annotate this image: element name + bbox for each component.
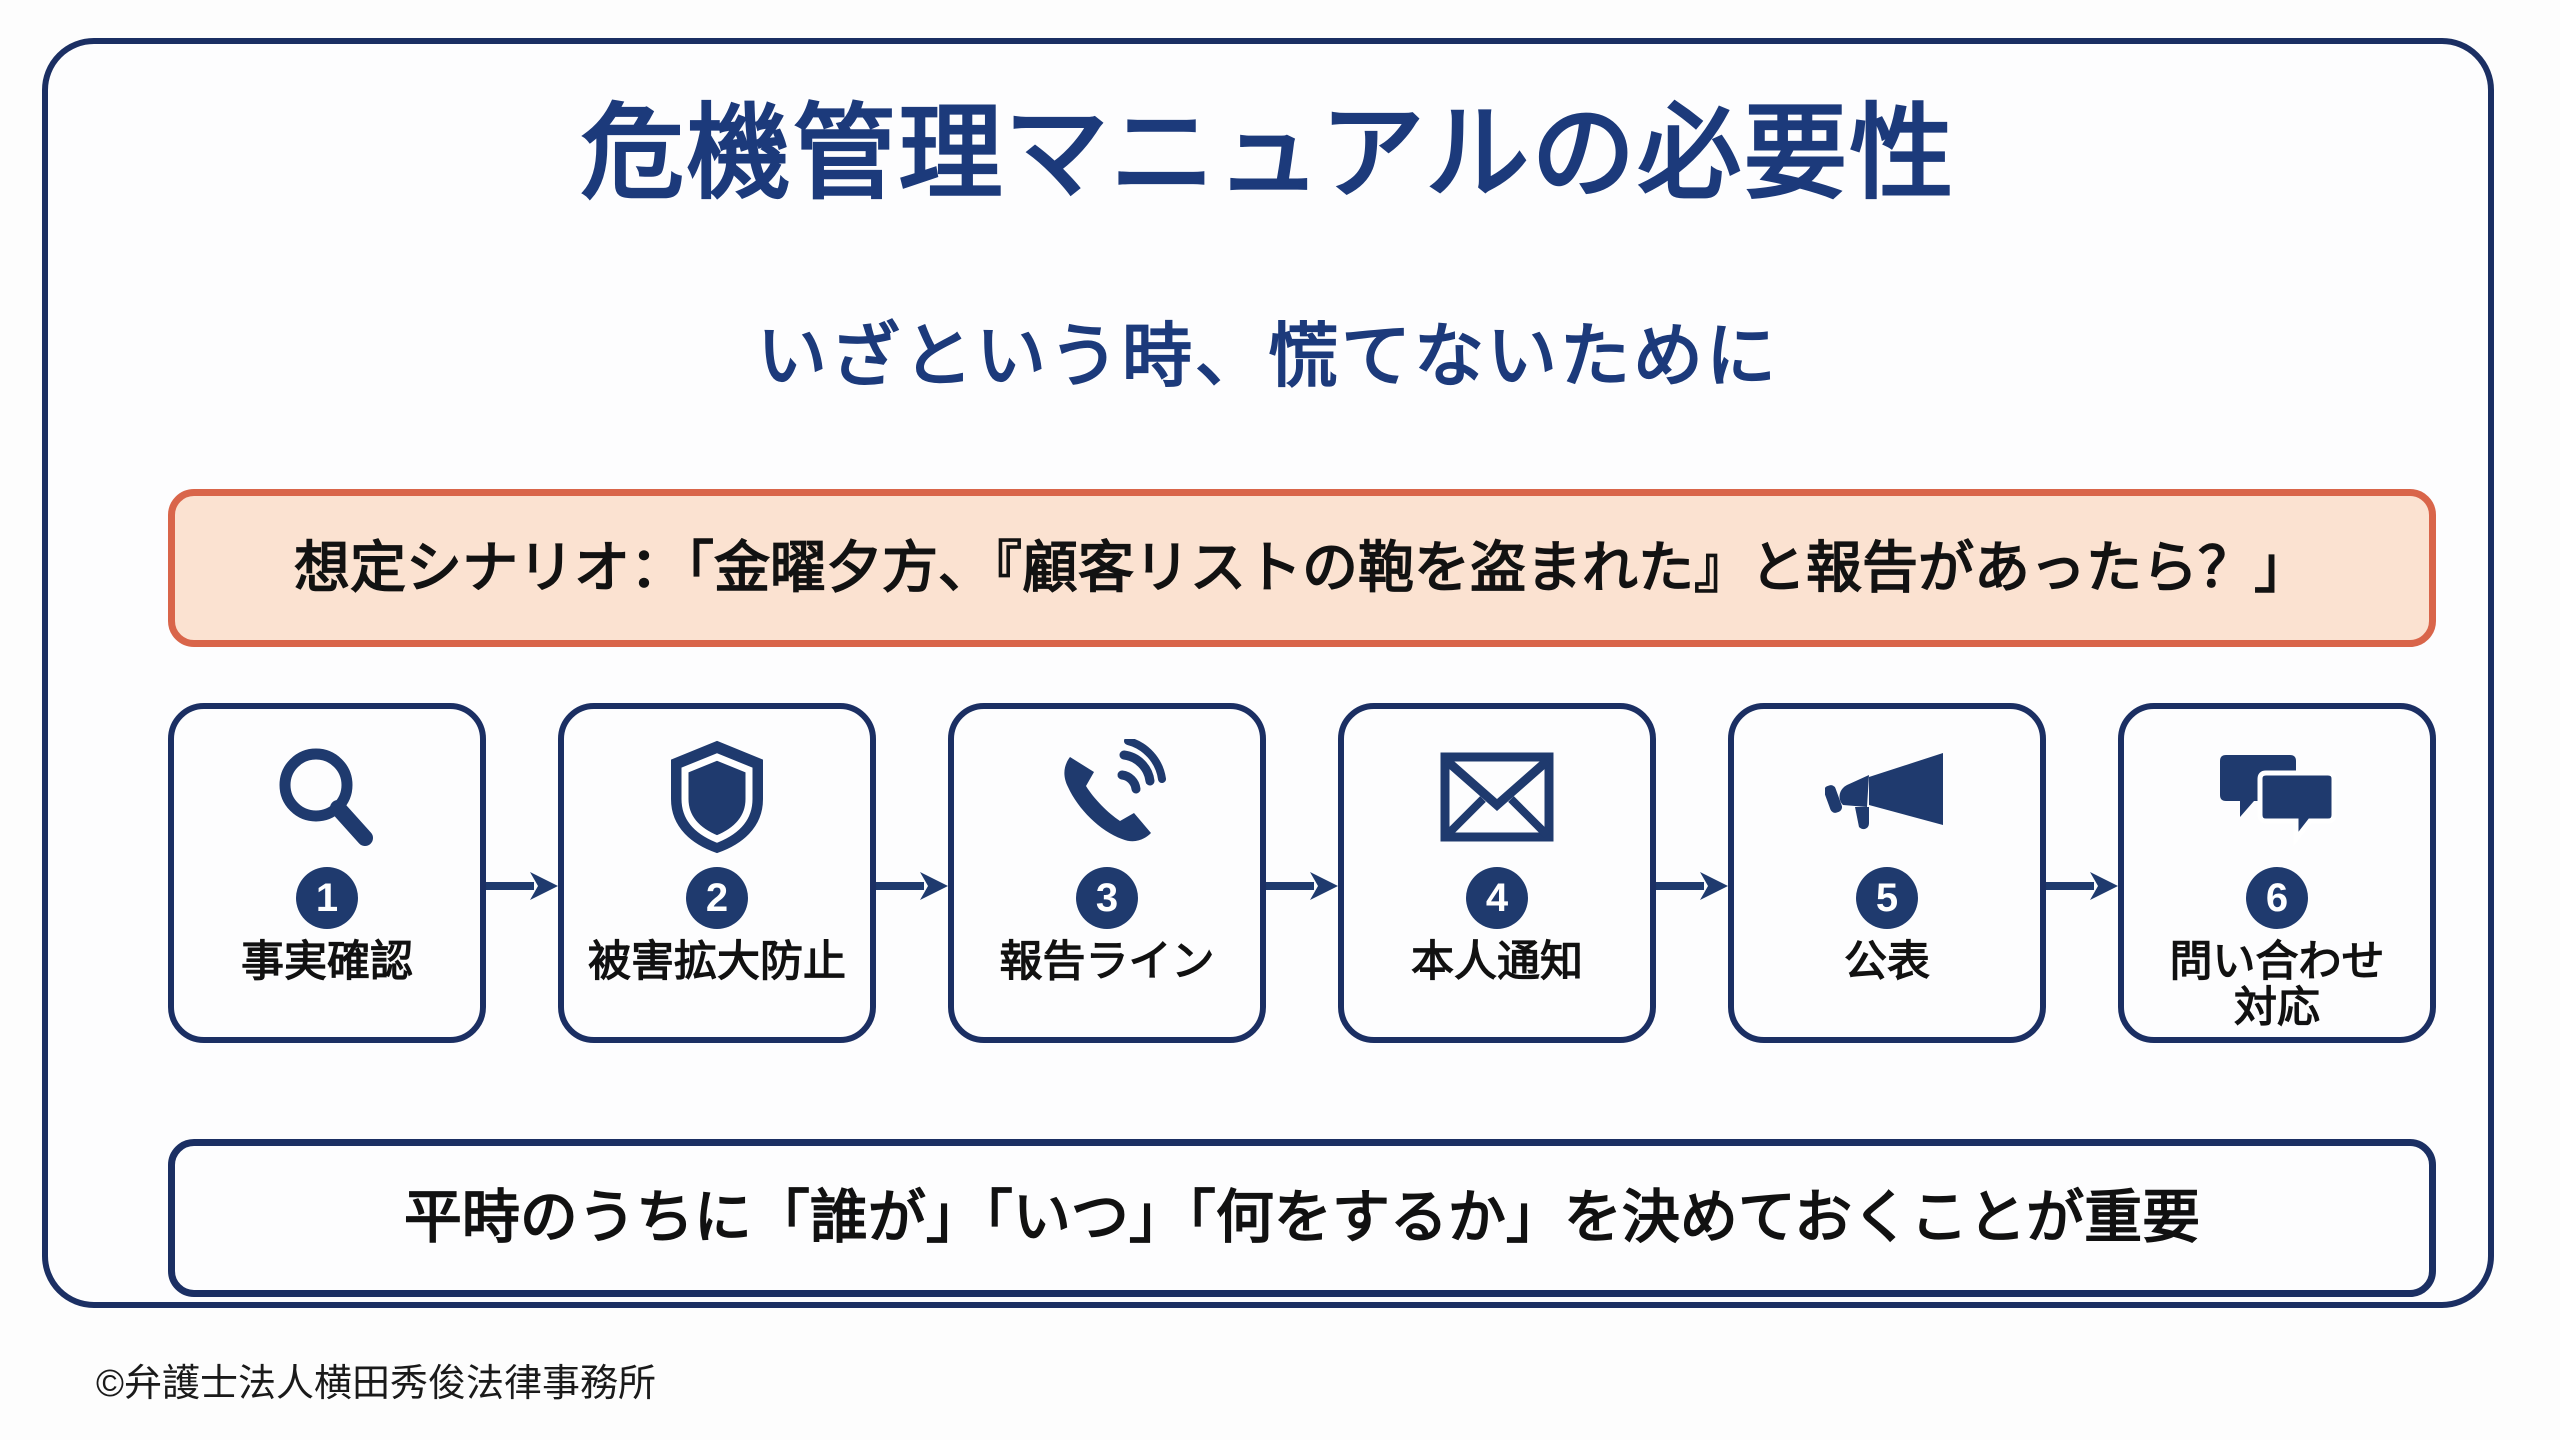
arrow-1-to-2 [486, 869, 558, 903]
step-label: 本人通知 [1411, 939, 1583, 985]
step-card-6[interactable]: 6 問い合わせ 対応 [2118, 703, 2436, 1043]
step-number-badge: 3 [1076, 867, 1138, 929]
slide-outer-frame [42, 38, 2494, 1308]
scenario-banner: 想定シナリオ：「金曜夕方、『顧客リストの鞄を盗まれた』と報告があったら？」 [168, 489, 2436, 647]
step-number-badge: 4 [1466, 867, 1528, 929]
arrow-2-to-3 [876, 869, 948, 903]
arrow-5-to-6 [2046, 869, 2118, 903]
step-number-badge: 6 [2246, 867, 2308, 929]
step-card-2[interactable]: 2 被害拡大防止 [558, 703, 876, 1043]
step-label: 問い合わせ 対応 [2170, 939, 2385, 1032]
step-label: 公表 [1844, 939, 1930, 985]
chat-bubbles-icon [2216, 733, 2338, 861]
step-label: 被害拡大防止 [588, 939, 846, 985]
scenario-text: 想定シナリオ：「金曜夕方、『顧客リストの鞄を盗まれた』と報告があったら？」 [294, 540, 2310, 596]
process-steps-row: 1 事実確認 2 被害拡大防止 [168, 703, 2436, 1043]
page-title: 危機管理マニュアルの必要性 [42, 96, 2494, 212]
step-card-4[interactable]: 4 本人通知 [1338, 703, 1656, 1043]
step-number-badge: 1 [296, 867, 358, 929]
step-label: 報告ライン [1000, 939, 1215, 985]
step-label: 事実確認 [241, 939, 413, 985]
step-card-1[interactable]: 1 事実確認 [168, 703, 486, 1043]
conclusion-box: 平時のうちに「誰が」「いつ」「何をするか」を決めておくことが重要 [168, 1139, 2436, 1297]
page-subtitle: いざという時、慌てないために [42, 318, 2494, 395]
step-number-badge: 2 [686, 867, 748, 929]
phone-ring-icon [1048, 733, 1166, 861]
arrow-4-to-5 [1656, 869, 1728, 903]
step-card-3[interactable]: 3 報告ライン [948, 703, 1266, 1043]
step-number-badge: 5 [1856, 867, 1918, 929]
step-card-5[interactable]: 5 公表 [1728, 703, 2046, 1043]
conclusion-text: 平時のうちに「誰が」「いつ」「何をするか」を決めておくことが重要 [404, 1189, 2200, 1247]
shield-icon [665, 733, 769, 861]
magnifier-icon [272, 733, 382, 861]
envelope-icon [1439, 733, 1555, 861]
footer-copyright: ©弁護士法人横田秀俊法律事務所 [96, 1352, 656, 1407]
megaphone-icon [1825, 733, 1949, 861]
arrow-3-to-4 [1266, 869, 1338, 903]
slide-canvas: 危機管理マニュアルの必要性 いざという時、慌てないために 想定シナリオ：「金曜夕… [0, 0, 2560, 1440]
